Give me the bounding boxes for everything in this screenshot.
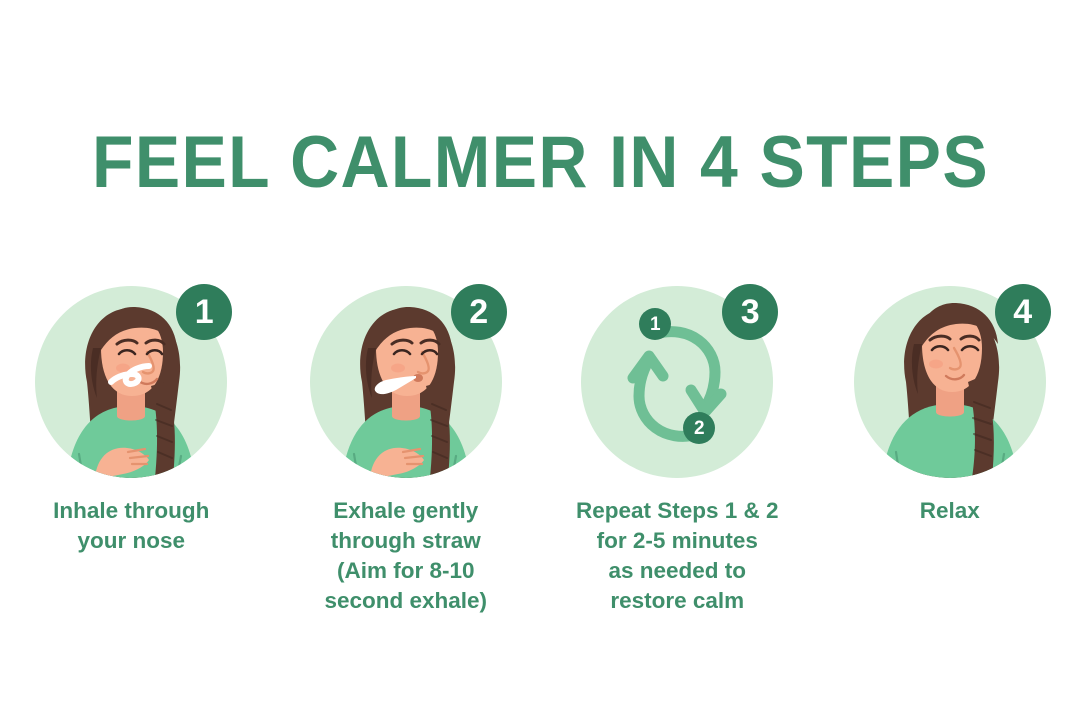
steps-row: 1 Inhale through your nose [0, 286, 1081, 616]
step-1-number-badge: 1 [176, 284, 232, 340]
step-4-caption: Relax [825, 496, 1075, 526]
step-4-number-badge: 4 [995, 284, 1051, 340]
step-2-icon-wrap: 2 [310, 286, 502, 478]
step-3-caption: Repeat Steps 1 & 2 for 2-5 minutes as ne… [552, 496, 802, 616]
step-1-icon-wrap: 1 [35, 286, 227, 478]
step-3-number-badge: 3 [722, 284, 778, 340]
step-item-2: 2 Exhale gently through straw (Aim for 8… [275, 286, 538, 616]
step-item-3: 1 2 3 Repeat Steps 1 & 2 for 2-5 minutes… [546, 286, 809, 616]
cycle-step-badge-2: 2 [683, 412, 715, 444]
step-3-icon-wrap: 1 2 3 [581, 286, 773, 478]
step-1-caption: Inhale through your nose [6, 496, 256, 556]
step-4-icon-wrap: 4 [854, 286, 1046, 478]
infographic-page: FEEL CALMER IN 4 STEPS [0, 0, 1081, 721]
step-2-number-badge: 2 [451, 284, 507, 340]
step-2-caption: Exhale gently through straw (Aim for 8-1… [281, 496, 531, 616]
page-title: FEEL CALMER IN 4 STEPS [38, 126, 1043, 199]
step-item-4: 4 Relax [819, 286, 1081, 526]
step-item-1: 1 Inhale through your nose [0, 286, 263, 556]
cycle-step-badge-1: 1 [639, 308, 671, 340]
